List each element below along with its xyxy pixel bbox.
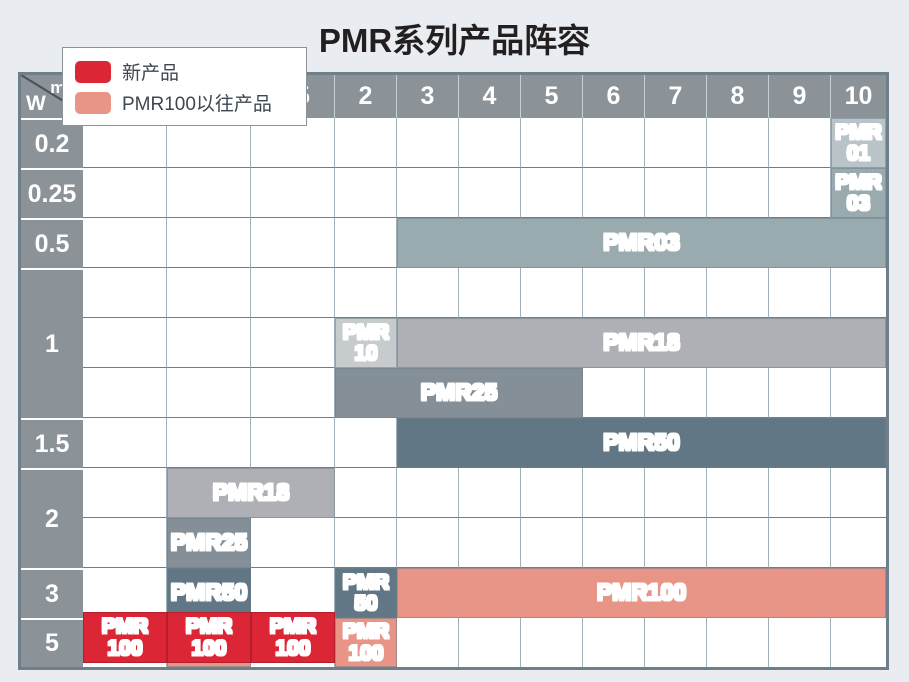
row-header-3: 3 — [21, 568, 83, 618]
grid-cell — [769, 518, 831, 568]
grid-cell — [645, 468, 707, 518]
grid-cell — [521, 618, 583, 667]
product-bar-pmr01[interactable]: PMR01 — [831, 118, 886, 168]
product-bar-pmr50-col2[interactable]: PMR50 — [335, 568, 397, 618]
grid-cell — [335, 418, 397, 468]
grid-cell — [335, 268, 397, 318]
product-bar-label: PMR100 — [343, 621, 390, 664]
grid-cell — [707, 118, 769, 168]
grid-cell — [83, 218, 167, 268]
product-bar-label: PMR18 — [213, 481, 290, 504]
row-header-0-25: 0.25 — [21, 168, 83, 218]
grid-cell — [645, 618, 707, 667]
grid-cell — [251, 318, 335, 368]
grid-cell — [521, 118, 583, 168]
grid-cell — [251, 168, 335, 218]
grid-cell — [459, 118, 521, 168]
product-bar-label: PMR100 — [270, 616, 317, 659]
grid-cell — [335, 168, 397, 218]
grid-cell — [583, 118, 645, 168]
grid-cell — [583, 518, 645, 568]
product-bar-pmr100-new-1-5[interactable]: PMR100 — [251, 612, 335, 663]
grid-cell — [167, 418, 251, 468]
legend-label: 新产品 — [122, 58, 179, 85]
grid-cell — [251, 518, 335, 568]
row-header-1: 1 — [21, 268, 83, 418]
grid-cell — [645, 368, 707, 418]
grid-cell — [521, 268, 583, 318]
col-header-5: 5 — [521, 75, 583, 118]
grid-cell — [769, 268, 831, 318]
grid-cell — [521, 518, 583, 568]
grid-cell — [83, 168, 167, 218]
col-header-3: 3 — [397, 75, 459, 118]
grid-cell — [831, 518, 886, 568]
product-bar-label: PMR100 — [186, 616, 233, 659]
legend-swatch-new-product — [75, 61, 111, 83]
product-bar-pmr50-row2[interactable]: PMR50 — [167, 568, 251, 618]
product-bar-label: PMR03 — [835, 172, 882, 215]
unit-watt-label: W — [26, 92, 46, 116]
grid-cell — [769, 468, 831, 518]
product-bar-pmr100-new-1[interactable]: PMR100 — [167, 612, 251, 663]
grid-cell — [707, 168, 769, 218]
row-header-0-5: 0.5 — [21, 218, 83, 268]
legend-swatch-legacy — [75, 92, 111, 114]
product-bar-label: PMR100 — [102, 616, 149, 659]
col-header-6: 6 — [583, 75, 645, 118]
product-bar-pmr100-row2[interactable]: PMR100 — [397, 568, 886, 618]
grid-cell — [167, 368, 251, 418]
grid-cell — [583, 168, 645, 218]
product-lineup-matrix: mΩ W 0.5 1 1.5 2 3 4 5 6 7 8 9 10 0.2 0.… — [18, 72, 889, 670]
product-bar-pmr25-row1[interactable]: PMR25 — [335, 368, 583, 418]
product-bar-label: PMR25 — [421, 381, 498, 404]
row-header-1-5: 1.5 — [21, 418, 83, 468]
grid-cell — [397, 618, 459, 667]
legend-label: PMR100以往产品 — [122, 89, 272, 116]
product-bar-pmr25-row2[interactable]: PMR25 — [167, 518, 251, 568]
grid-cell — [251, 368, 335, 418]
col-header-9: 9 — [769, 75, 831, 118]
product-bar-label: PMR50 — [603, 431, 680, 454]
product-bar-pmr100-new-0-5[interactable]: PMR100 — [83, 612, 167, 663]
grid-cell — [459, 518, 521, 568]
row-header-5: 5 — [21, 618, 83, 667]
grid-cell — [459, 268, 521, 318]
grid-cell — [583, 468, 645, 518]
product-bar-label: PMR50 — [343, 572, 390, 615]
grid-cell — [167, 318, 251, 368]
grid-cell — [83, 468, 167, 518]
grid-cell — [645, 268, 707, 318]
grid-cell — [335, 468, 397, 518]
grid-cell — [707, 618, 769, 667]
grid-cell — [707, 518, 769, 568]
grid-cell — [459, 618, 521, 667]
product-bar-pmr18-row1[interactable]: PMR18 — [397, 318, 886, 368]
grid-cell — [167, 218, 251, 268]
product-bar-label: PMR25 — [171, 531, 248, 554]
grid-cell — [645, 118, 707, 168]
grid-cell — [459, 168, 521, 218]
grid-cell — [251, 418, 335, 468]
grid-cell — [831, 618, 886, 667]
grid-cell — [707, 468, 769, 518]
grid-cell — [335, 518, 397, 568]
grid-cell — [83, 268, 167, 318]
grid-cell — [83, 418, 167, 468]
grid-cell — [397, 118, 459, 168]
product-bar-pmr10[interactable]: PMR10 — [335, 318, 397, 368]
product-bar-pmr03-row[interactable]: PMR03 — [397, 218, 886, 268]
grid-cell — [397, 518, 459, 568]
grid-cell — [769, 618, 831, 667]
product-bar-label: PMR01 — [835, 122, 882, 165]
grid-cell — [335, 118, 397, 168]
grid-cell — [459, 468, 521, 518]
grid-cell — [521, 168, 583, 218]
grid-cell — [769, 368, 831, 418]
grid-cell — [831, 468, 886, 518]
col-header-10: 10 — [831, 75, 886, 118]
grid-cell — [831, 368, 886, 418]
grid-cell — [397, 268, 459, 318]
grid-cell — [583, 368, 645, 418]
grid-cell — [645, 168, 707, 218]
grid-cell — [583, 268, 645, 318]
col-header-7: 7 — [645, 75, 707, 118]
product-bar-label: PMR18 — [603, 331, 680, 354]
grid-cell — [707, 368, 769, 418]
legend: 新产品 PMR100以往产品 — [62, 47, 307, 126]
grid-cell — [83, 368, 167, 418]
grid-cell — [167, 268, 251, 318]
grid-cell — [769, 168, 831, 218]
grid-cell — [707, 268, 769, 318]
product-bar-label: PMR03 — [603, 231, 680, 254]
grid-cell — [251, 268, 335, 318]
product-bar-label: PMR100 — [597, 581, 686, 604]
grid-cell — [521, 468, 583, 518]
grid-cell — [769, 118, 831, 168]
grid-cell — [83, 518, 167, 568]
grid-cell — [397, 468, 459, 518]
col-header-4: 4 — [459, 75, 521, 118]
legend-item-new-product: 新产品 — [75, 56, 306, 87]
product-bar-pmr50-row1[interactable]: PMR50 — [397, 418, 886, 468]
product-bar-pmr100-row3b[interactable]: PMR100 — [335, 618, 397, 667]
grid-cell — [167, 168, 251, 218]
matrix-grid: mΩ W 0.5 1 1.5 2 3 4 5 6 7 8 9 10 0.2 0.… — [21, 75, 886, 667]
grid-cell — [251, 218, 335, 268]
grid-cell — [645, 518, 707, 568]
product-bar-label: PMR50 — [171, 581, 248, 604]
grid-cell — [335, 218, 397, 268]
product-bar-pmr18-row15[interactable]: PMR18 — [167, 468, 335, 518]
grid-cell — [251, 568, 335, 618]
grid-cell — [397, 168, 459, 218]
col-header-8: 8 — [707, 75, 769, 118]
col-header-2: 2 — [335, 75, 397, 118]
row-header-2: 2 — [21, 468, 83, 568]
grid-cell — [831, 268, 886, 318]
grid-cell — [83, 318, 167, 368]
product-bar-label: PMR10 — [343, 322, 390, 365]
product-bar-pmr03-cell[interactable]: PMR03 — [831, 168, 886, 218]
grid-cell — [583, 618, 645, 667]
legend-item-legacy-pmr100: PMR100以往产品 — [75, 87, 306, 118]
grid-cell — [83, 568, 167, 618]
